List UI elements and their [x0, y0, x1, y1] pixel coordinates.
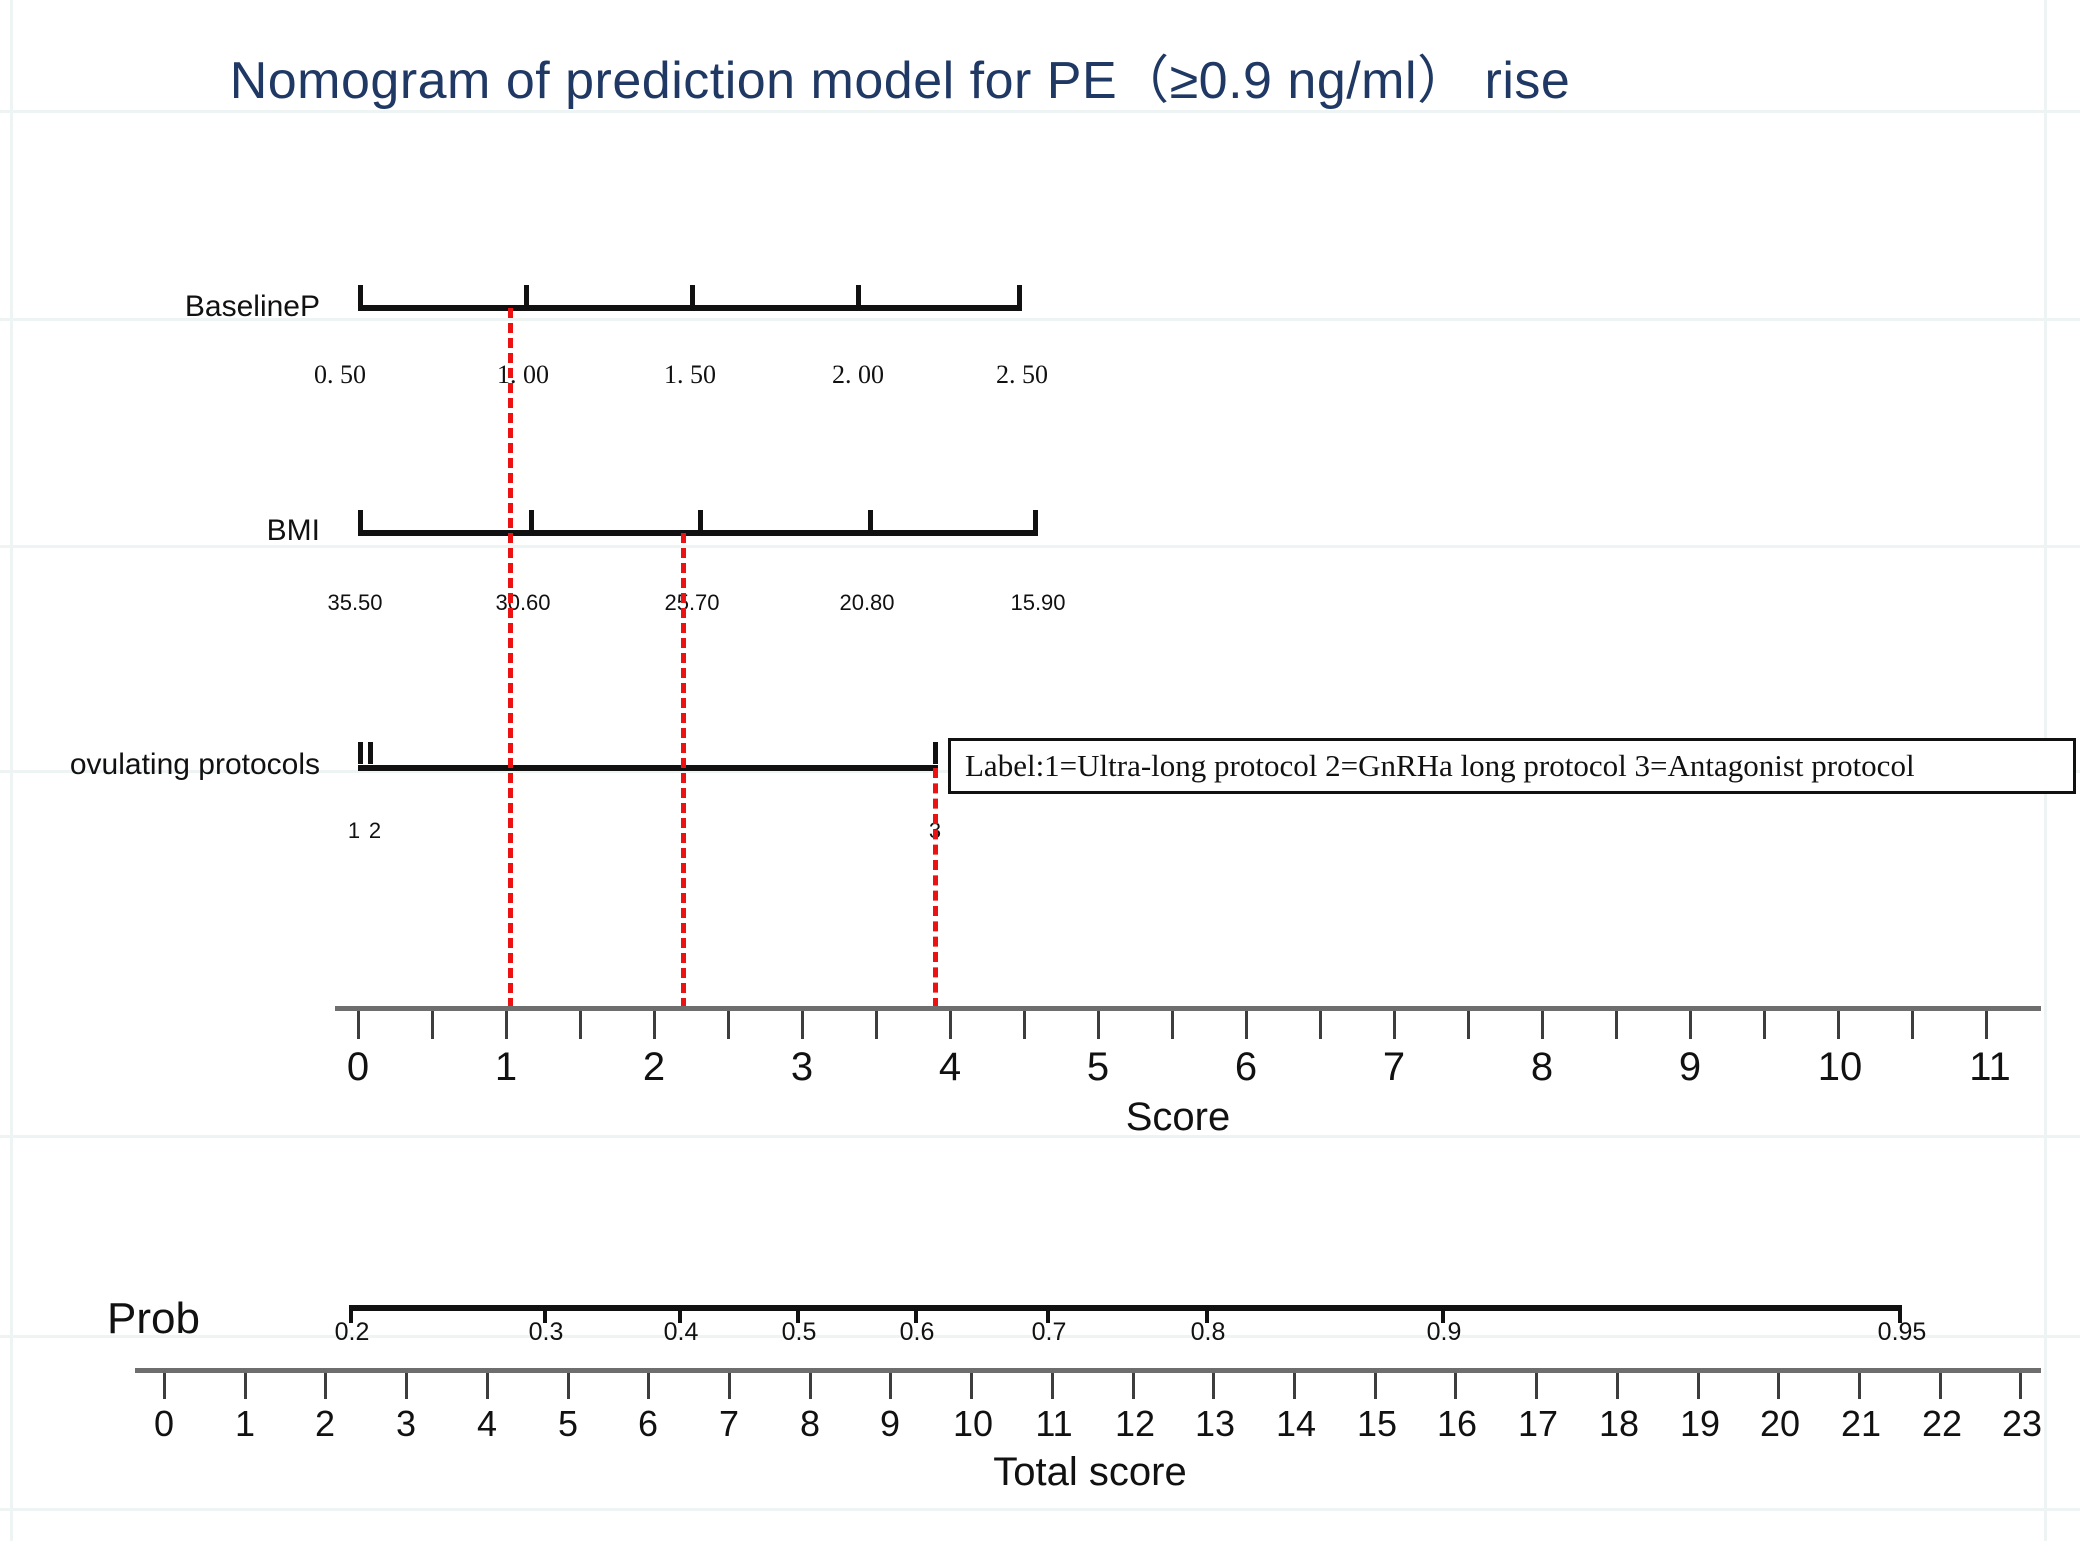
total-score-tick-label: 5	[558, 1403, 578, 1445]
score-minor-tick	[1171, 1011, 1174, 1039]
score-minor-tick	[1023, 1011, 1026, 1039]
total-score-tick	[1616, 1373, 1619, 1399]
total-score-tick-label: 13	[1195, 1403, 1235, 1445]
score-tick-label: 10	[1818, 1045, 1863, 1090]
baselinep-tick	[690, 285, 695, 307]
score-major-tick	[801, 1011, 804, 1039]
baselinep-tick	[358, 285, 363, 307]
total-score-tick-label: 12	[1115, 1403, 1155, 1445]
total-score-tick	[970, 1373, 973, 1399]
total-score-tick-label: 0	[154, 1403, 174, 1445]
bmi-tick-label: 35.50	[327, 590, 382, 616]
total-score-tick	[1858, 1373, 1861, 1399]
score-tick-label: 4	[939, 1045, 961, 1090]
prob-tick-label: 0.6	[900, 1318, 935, 1347]
baselinep-tick	[524, 285, 529, 307]
score-minor-tick	[875, 1011, 878, 1039]
score-tick-label: 2	[643, 1045, 665, 1090]
bmi-tick	[1033, 510, 1038, 532]
total-score-tick-label: 19	[1680, 1403, 1720, 1445]
score-minor-tick	[579, 1011, 582, 1039]
axis-label-prob: Prob	[0, 1294, 200, 1344]
baselinep-tick-label: 2. 00	[832, 360, 884, 390]
prob-tick-label: 0.3	[529, 1318, 564, 1347]
bmi-tick-label: 15.90	[1010, 590, 1065, 616]
total-score-tick-label: 22	[1922, 1403, 1962, 1445]
protocols-tick-1	[358, 742, 363, 764]
marker-line-bmi	[681, 533, 686, 1008]
total-score-axis-caption: Total score	[993, 1450, 1186, 1495]
bmi-tick-label: 25.70	[664, 590, 719, 616]
total-score-tick-label: 1	[235, 1403, 255, 1445]
total-score-tick-label: 3	[396, 1403, 416, 1445]
score-tick-label: 11	[1969, 1045, 2011, 1090]
total-score-tick	[2019, 1373, 2022, 1399]
score-major-tick	[1837, 1011, 1840, 1039]
total-score-tick	[889, 1373, 892, 1399]
total-score-tick	[1535, 1373, 1538, 1399]
total-score-tick	[1051, 1373, 1054, 1399]
baselinep-tick-label: 0. 50	[314, 360, 366, 390]
total-score-tick-label: 8	[800, 1403, 820, 1445]
total-score-tick-label: 4	[477, 1403, 497, 1445]
score-minor-tick	[431, 1011, 434, 1039]
baselinep-tick-label: 1. 50	[664, 360, 716, 390]
total-score-tick-label: 9	[880, 1403, 900, 1445]
score-major-tick	[1097, 1011, 1100, 1039]
score-minor-tick	[1911, 1011, 1914, 1039]
prob-tick-label: 0.4	[664, 1318, 699, 1347]
score-minor-tick	[727, 1011, 730, 1039]
total-score-axis-line	[135, 1368, 2041, 1373]
total-score-tick-label: 2	[315, 1403, 335, 1445]
marker-line-protocols	[933, 768, 938, 1008]
total-score-tick-label: 18	[1599, 1403, 1639, 1445]
page-title: Nomogram of prediction model for PE（≥0.9…	[0, 38, 1800, 113]
prob-tick-label: 0.5	[782, 1318, 817, 1347]
score-minor-tick	[1319, 1011, 1322, 1039]
background-guide-line	[0, 1135, 2080, 1138]
score-tick-label: 3	[791, 1045, 813, 1090]
score-major-tick	[1689, 1011, 1692, 1039]
prob-tick-label: 0.95	[1878, 1318, 1927, 1347]
legend-box: Label:1=Ultra-long protocol 2=GnRHa long…	[948, 738, 2076, 794]
bmi-tick-label: 20.80	[839, 590, 894, 616]
prob-tick-label: 0.9	[1427, 1318, 1462, 1347]
score-major-tick	[1245, 1011, 1248, 1039]
total-score-tick	[728, 1373, 731, 1399]
score-major-tick	[1393, 1011, 1396, 1039]
baselinep-tick-label: 1. 00	[497, 360, 549, 390]
score-major-tick	[1541, 1011, 1544, 1039]
score-axis-caption: Score	[1126, 1095, 1231, 1140]
total-score-tick-label: 21	[1841, 1403, 1881, 1445]
prob-tick-label: 0.2	[335, 1318, 370, 1347]
axis-label-bmi: BMI	[0, 514, 320, 548]
total-score-tick	[486, 1373, 489, 1399]
legend-text: Label:1=Ultra-long protocol 2=GnRHa long…	[965, 748, 1915, 784]
score-minor-tick	[1763, 1011, 1766, 1039]
axis-label-baselinep: BaselineP	[0, 290, 320, 324]
bmi-tick	[529, 510, 534, 532]
total-score-tick	[1777, 1373, 1780, 1399]
background-guide-line	[0, 1508, 2080, 1511]
prob-tick-label: 0.8	[1191, 1318, 1226, 1347]
total-score-tick-label: 20	[1760, 1403, 1800, 1445]
score-major-tick	[505, 1011, 508, 1039]
total-score-tick-label: 10	[953, 1403, 993, 1445]
total-score-tick	[1454, 1373, 1457, 1399]
total-score-tick	[1293, 1373, 1296, 1399]
baselinep-tick-label: 2. 50	[996, 360, 1048, 390]
score-tick-label: 9	[1679, 1045, 1701, 1090]
baselinep-tick	[856, 285, 861, 307]
score-minor-tick	[1615, 1011, 1618, 1039]
score-tick-label: 1	[495, 1045, 517, 1090]
total-score-tick	[1132, 1373, 1135, 1399]
total-score-tick-label: 11	[1035, 1403, 1072, 1445]
protocols-tick-label-1: 1	[348, 818, 360, 844]
total-score-tick	[1939, 1373, 1942, 1399]
prob-label-text: Prob	[107, 1294, 200, 1343]
prob-tick-label: 0.7	[1032, 1318, 1067, 1347]
protocols-axis-line	[358, 765, 938, 771]
nomogram-figure: Nomogram of prediction model for PE（≥0.9…	[0, 0, 2080, 1541]
bmi-tick	[698, 510, 703, 532]
total-score-tick-label: 17	[1518, 1403, 1558, 1445]
total-score-tick	[244, 1373, 247, 1399]
axis-label-ovulating-protocols: ovulating protocols	[0, 748, 320, 782]
score-tick-label: 7	[1383, 1045, 1405, 1090]
protocols-tick-2	[368, 742, 373, 764]
total-score-tick	[567, 1373, 570, 1399]
total-score-tick	[1697, 1373, 1700, 1399]
prob-axis-line	[349, 1305, 1901, 1311]
total-score-tick-label: 7	[719, 1403, 739, 1445]
total-score-tick-label: 15	[1357, 1403, 1397, 1445]
protocols-tick-label-2: 2	[369, 818, 381, 844]
score-major-tick	[357, 1011, 360, 1039]
total-score-tick	[163, 1373, 166, 1399]
score-tick-label: 0	[347, 1045, 369, 1090]
total-score-tick	[405, 1373, 408, 1399]
score-tick-label: 5	[1087, 1045, 1109, 1090]
score-major-tick	[653, 1011, 656, 1039]
total-score-tick	[324, 1373, 327, 1399]
score-tick-label: 8	[1531, 1045, 1553, 1090]
bmi-tick-label: 30.60	[495, 590, 550, 616]
score-major-tick	[949, 1011, 952, 1039]
total-score-tick-label: 14	[1276, 1403, 1316, 1445]
total-score-tick-label: 6	[638, 1403, 658, 1445]
total-score-tick-label: 16	[1437, 1403, 1477, 1445]
bmi-tick	[358, 510, 363, 532]
score-minor-tick	[1467, 1011, 1470, 1039]
total-score-tick-label: 23	[2002, 1403, 2042, 1445]
bmi-tick	[868, 510, 873, 532]
protocols-tick-3	[933, 742, 938, 764]
marker-line-baselinep	[508, 308, 513, 1008]
total-score-tick	[1374, 1373, 1377, 1399]
baselinep-tick	[1017, 285, 1022, 307]
total-score-tick	[809, 1373, 812, 1399]
total-score-tick	[647, 1373, 650, 1399]
score-major-tick	[1985, 1011, 1988, 1039]
score-axis-line	[335, 1006, 2041, 1011]
score-tick-label: 6	[1235, 1045, 1257, 1090]
total-score-tick	[1212, 1373, 1215, 1399]
